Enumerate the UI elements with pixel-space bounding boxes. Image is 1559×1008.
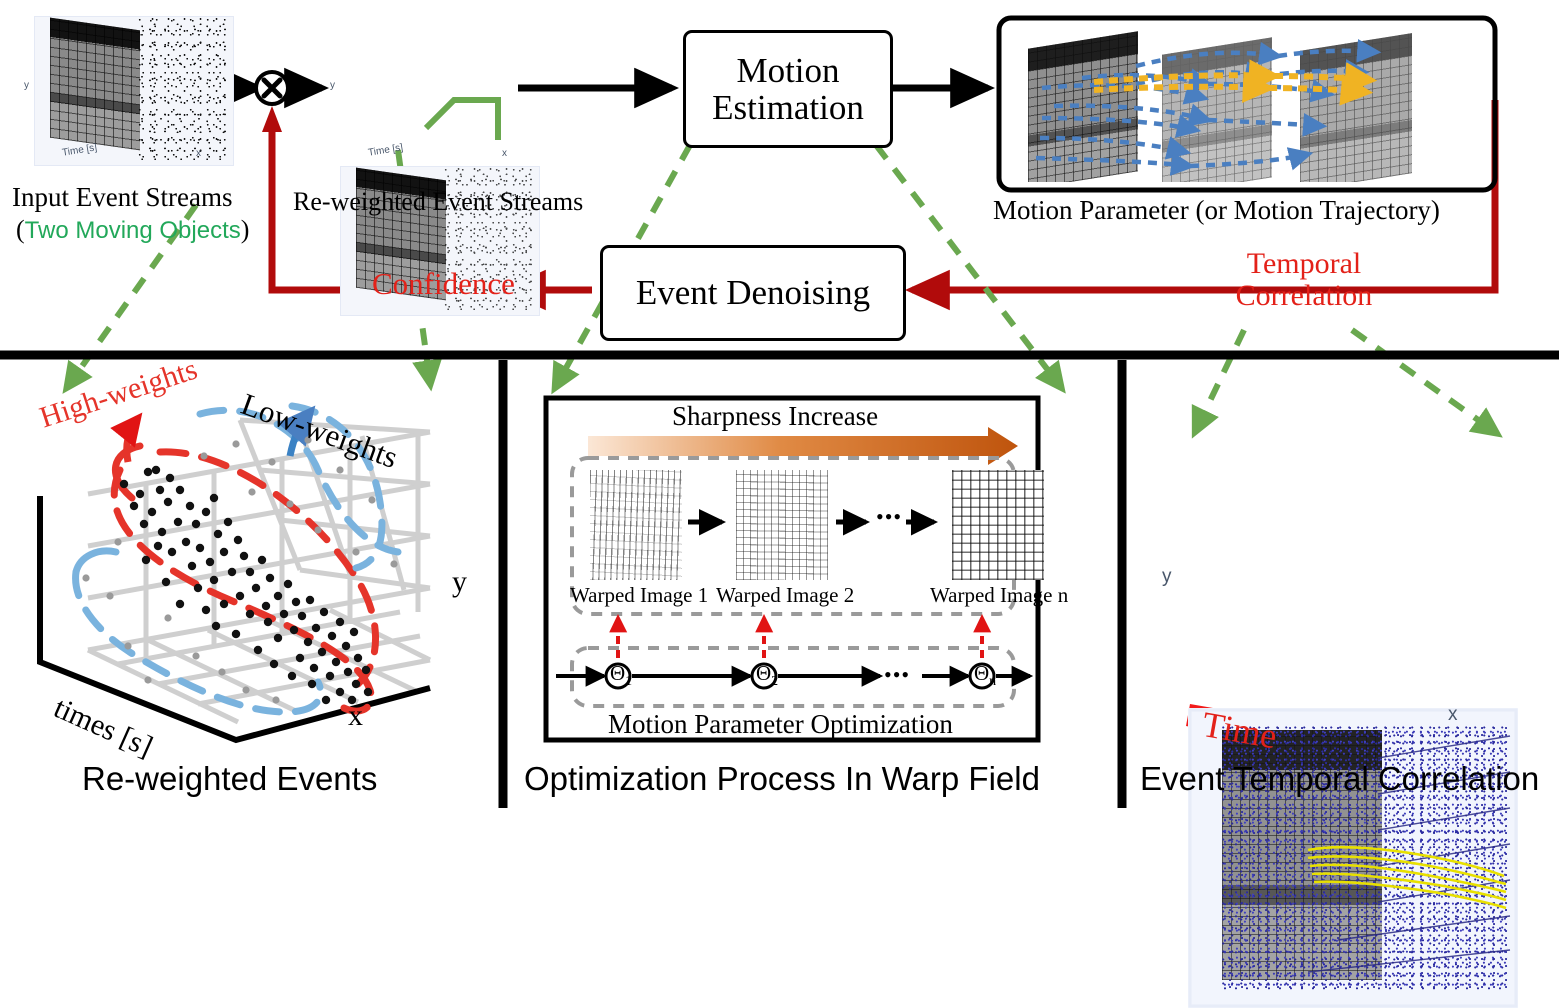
green-selection-bracket: [420, 78, 540, 168]
temporal-correlation-label: Temporal Correlation: [1219, 248, 1389, 311]
theta-node-1-label: Θ1: [610, 662, 632, 690]
input-event-streams-subcaption: (Two Moving Objects): [16, 216, 249, 243]
paren-close: ): [241, 215, 250, 244]
two-moving-objects-label: Two Moving Objects: [25, 217, 241, 244]
motion-estimation-line2: Estimation: [712, 89, 864, 126]
theta-chain-ellipsis: •••: [884, 663, 910, 686]
warped-image-2: [736, 470, 828, 580]
reweighted-cube-axis-y: y: [330, 80, 335, 91]
panel-caption-optimization-process: Optimization Process In Warp Field: [524, 762, 1040, 797]
warped-image-n: [952, 470, 1044, 580]
input-cube-axis-x: x: [196, 148, 201, 159]
warped-image-1: [590, 470, 682, 580]
input-event-stream-cube: [34, 16, 234, 166]
warped-image-1-label: Warped Image 1: [570, 584, 708, 606]
panel-caption-event-temporal-correlation: Event Temporal Correlation: [1140, 762, 1539, 797]
theta-n-subscript: n: [989, 674, 996, 689]
event-temporal-correlation-cube: [1188, 708, 1518, 1008]
plot-axis-y-label: y: [452, 566, 467, 598]
panel-caption-reweighted-events: Re-weighted Events: [82, 762, 377, 797]
theta-2-symbol: Θ: [756, 661, 771, 685]
theta-n-symbol: Θ: [974, 661, 989, 685]
confidence-label: Confidence: [372, 268, 515, 301]
link-temporal-to-correlation-right: [1352, 330, 1495, 432]
theta-1-subscript: 1: [625, 674, 632, 689]
input-cube-axis-y: y: [24, 80, 29, 91]
reweighted-cube-axis-x: x: [502, 148, 507, 159]
correlation-axis-y-label: y: [1162, 566, 1172, 588]
correlation-axis-x-label: x: [1448, 704, 1458, 726]
motion-parameter-illustration: [1012, 26, 1482, 182]
warped-image-2-label: Warped Image 2: [716, 584, 854, 606]
event-denoising-label: Event Denoising: [636, 273, 870, 313]
sharpness-increase-label: Sharpness Increase: [672, 402, 878, 430]
warped-image-n-label: Warped Image n: [930, 584, 1068, 606]
link-temporal-to-correlation-left: [1196, 330, 1244, 430]
temporal-correlation-line1: Temporal: [1219, 248, 1389, 280]
event-denoising-box[interactable]: Event Denoising: [600, 245, 906, 341]
input-event-streams-caption: Input Event Streams: [12, 183, 232, 211]
motion-parameter-caption: Motion Parameter (or Motion Trajectory): [993, 196, 1440, 224]
theta-node-2-label: Θ2: [756, 662, 778, 690]
reweighted-event-streams-caption: Re-weighted Event Streams: [293, 188, 583, 215]
theta-1-symbol: Θ: [610, 661, 625, 685]
warped-images-ellipsis: •••: [876, 505, 902, 528]
paren-open: (: [16, 215, 25, 244]
motion-estimation-box[interactable]: Motion Estimation: [683, 30, 893, 148]
theta-node-n-label: Θn: [974, 662, 996, 690]
plot-axis-x-label: x: [348, 700, 363, 732]
motion-estimation-line1: Motion: [736, 52, 839, 89]
theta-2-subscript: 2: [771, 674, 778, 689]
arrowhead-confidence-up: [262, 106, 282, 132]
temporal-correlation-line2: Correlation: [1219, 280, 1389, 312]
motion-parameter-optimization-label: Motion Parameter Optimization: [608, 710, 953, 738]
